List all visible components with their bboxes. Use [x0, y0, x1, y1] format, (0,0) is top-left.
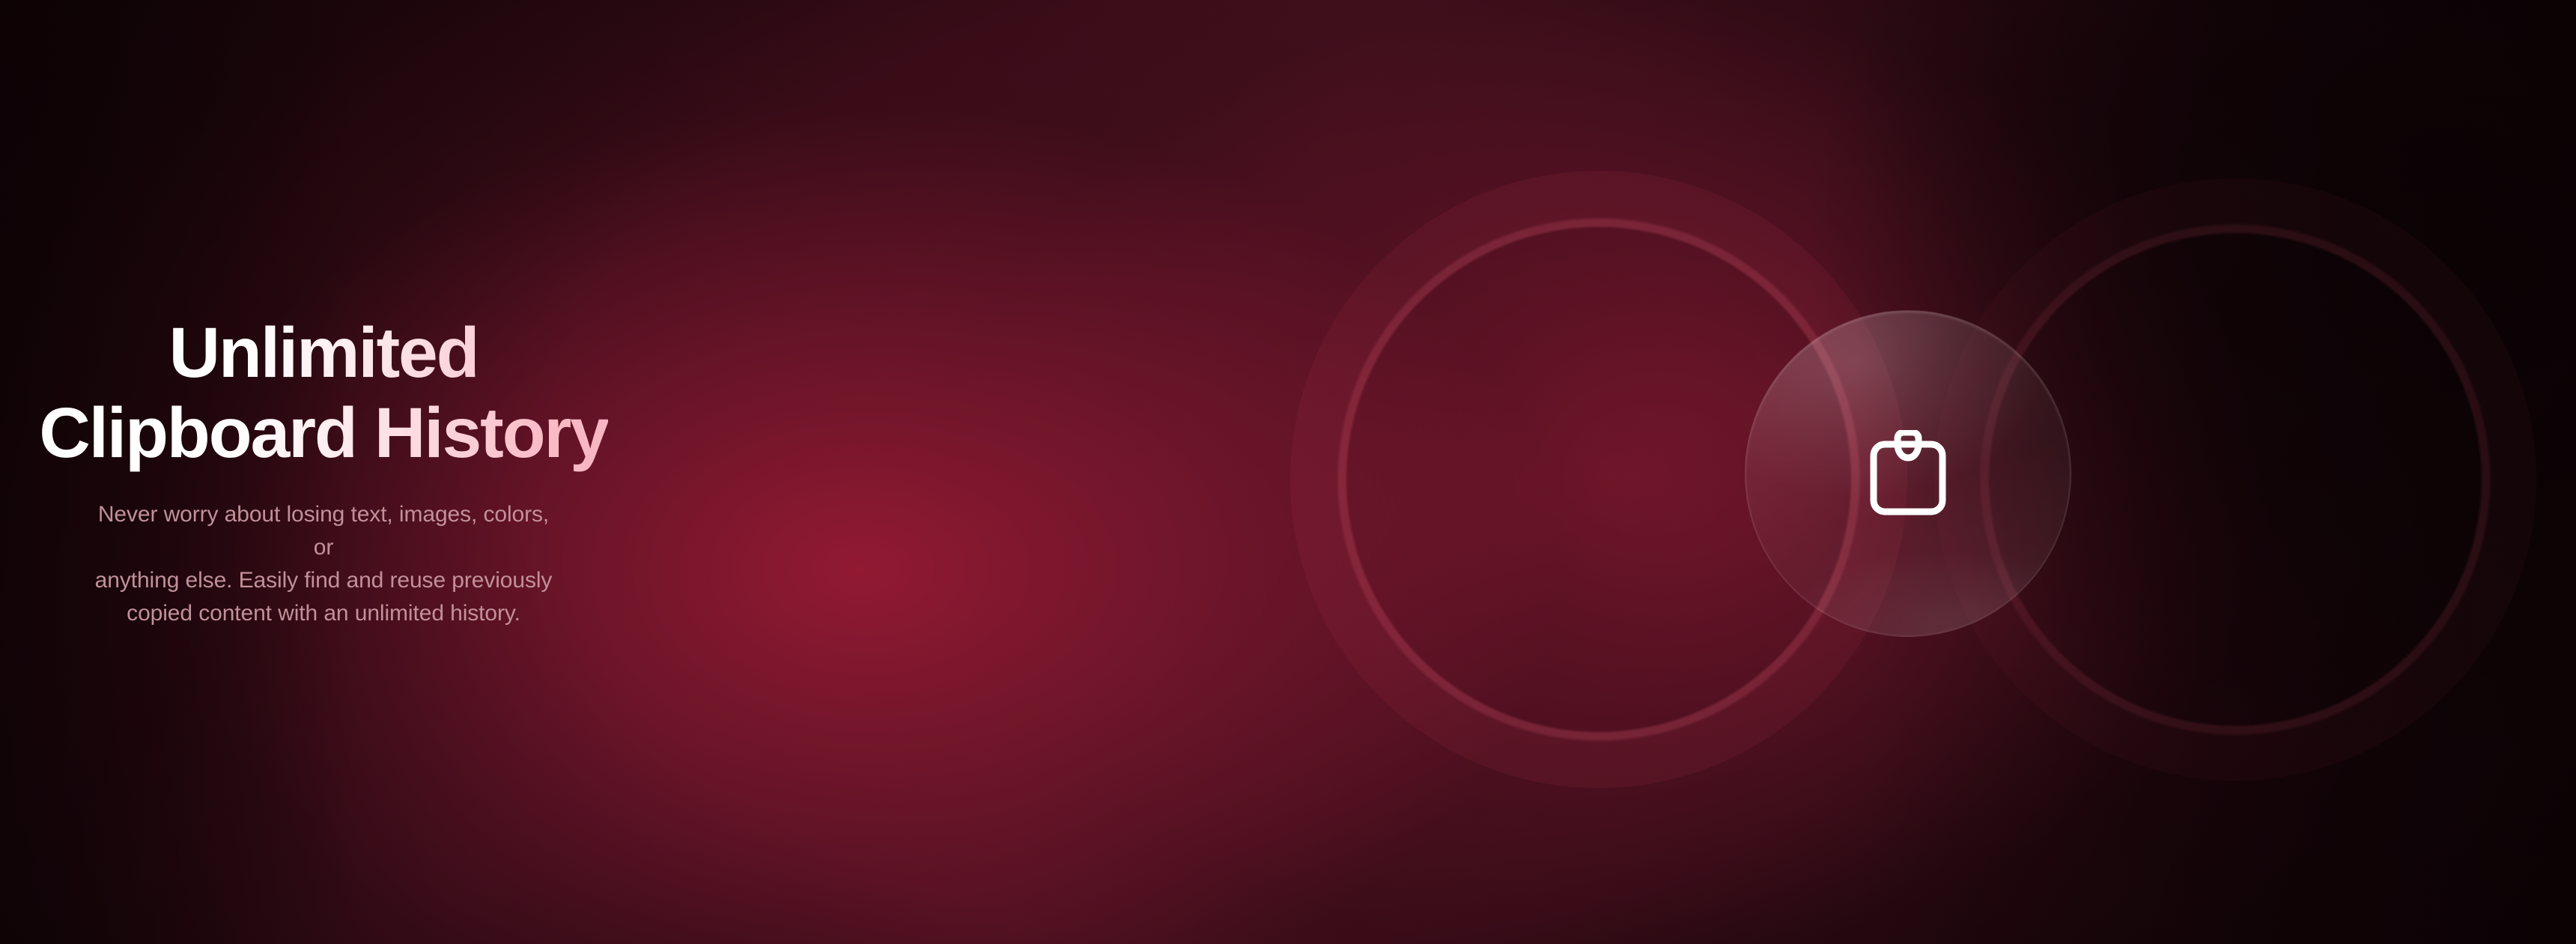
headline-line-1: Unlimited — [39, 313, 608, 393]
hero-banner: Unlimited Clipboard History Never worry … — [0, 0, 2576, 944]
clipboard-badge — [1745, 310, 2071, 637]
hero-subtitle: Never worry about losing text, images, c… — [91, 498, 556, 630]
page-title: Unlimited Clipboard History — [39, 313, 608, 473]
subtitle-line-2: anything else. Easily find and reuse pre… — [91, 564, 556, 597]
infinity-graphic — [1198, 0, 2576, 944]
headline-line-2: Clipboard History — [39, 393, 608, 473]
subtitle-line-3: copied content with an unlimited history… — [91, 597, 556, 630]
hero-text-column: Unlimited Clipboard History Never worry … — [0, 0, 647, 944]
subtitle-line-1: Never worry about losing text, images, c… — [91, 498, 556, 564]
clipboard-icon — [1868, 430, 1948, 517]
